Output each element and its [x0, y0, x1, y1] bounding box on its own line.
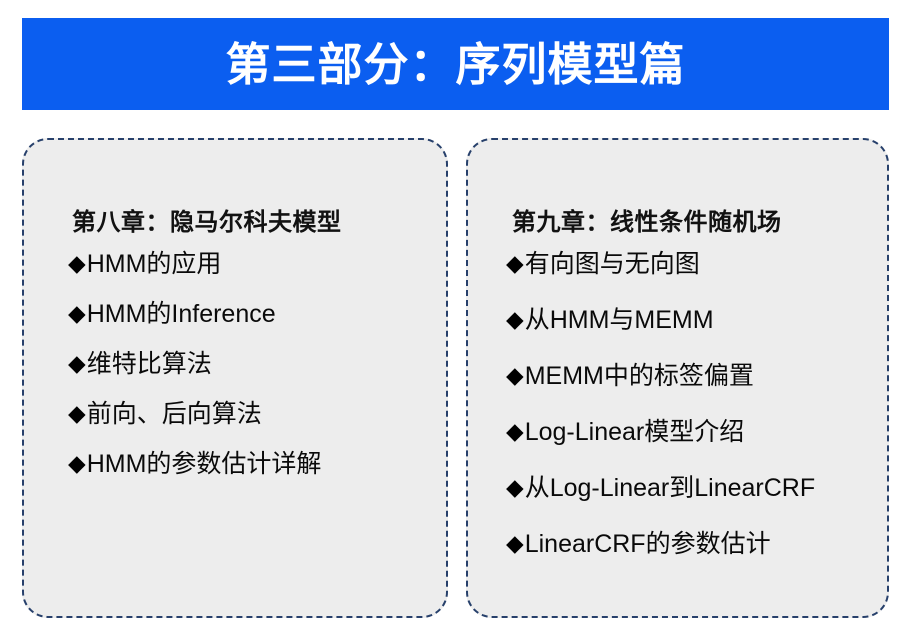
list-item: ◆ LinearCRF的参数估计: [506, 532, 815, 588]
list-item-label: HMM的参数估计详解: [87, 452, 322, 477]
list-item-label: MEMM中的标签偏置: [525, 364, 754, 389]
list-item-label: Log-Linear模型介绍: [525, 420, 745, 445]
list-item: ◆ HMM的Inference: [68, 302, 321, 352]
list-item-label: HMM的应用: [87, 252, 222, 277]
diamond-bullet-icon: ◆: [506, 420, 524, 443]
diamond-bullet-icon: ◆: [506, 476, 524, 499]
chapter-card-right: 第九章：线性条件随机场 ◆ 有向图与无向图 ◆ 从HMM与MEMM ◆ MEMM…: [466, 138, 889, 618]
topic-list-right: ◆ 有向图与无向图 ◆ 从HMM与MEMM ◆ MEMM中的标签偏置 ◆ Log…: [506, 252, 815, 588]
diamond-bullet-icon: ◆: [506, 364, 524, 387]
diamond-bullet-icon: ◆: [68, 252, 86, 275]
list-item: ◆ HMM的应用: [68, 252, 321, 302]
diamond-bullet-icon: ◆: [68, 402, 86, 425]
diamond-bullet-icon: ◆: [68, 452, 86, 475]
diamond-bullet-icon: ◆: [68, 352, 86, 375]
chapter-card-left: 第八章：隐马尔科夫模型 ◆ HMM的应用 ◆ HMM的Inference ◆ 维…: [22, 138, 448, 618]
list-item-label: 前向、后向算法: [87, 402, 262, 427]
chapter-heading-left: 第八章：隐马尔科夫模型: [72, 202, 342, 237]
list-item: ◆ 维特比算法: [68, 352, 321, 402]
list-item-label: 有向图与无向图: [525, 252, 700, 277]
list-item-label: HMM的Inference: [87, 302, 276, 327]
diamond-bullet-icon: ◆: [506, 252, 524, 275]
list-item: ◆ 从HMM与MEMM: [506, 308, 815, 364]
list-item: ◆ HMM的参数估计详解: [68, 452, 321, 502]
list-item-label: 从HMM与MEMM: [525, 308, 714, 333]
list-item: ◆ 从Log-Linear到LinearCRF: [506, 476, 815, 532]
list-item-label: 维特比算法: [87, 352, 212, 377]
diamond-bullet-icon: ◆: [506, 532, 524, 555]
banner-title: 第三部分：序列模型篇: [225, 42, 685, 87]
diamond-bullet-icon: ◆: [68, 302, 86, 325]
list-item: ◆ MEMM中的标签偏置: [506, 364, 815, 420]
list-item: ◆ Log-Linear模型介绍: [506, 420, 815, 476]
topic-list-left: ◆ HMM的应用 ◆ HMM的Inference ◆ 维特比算法 ◆ 前向、后向…: [68, 252, 321, 502]
diamond-bullet-icon: ◆: [506, 308, 524, 331]
list-item-label: LinearCRF的参数估计: [525, 532, 771, 557]
list-item-label: 从Log-Linear到LinearCRF: [525, 476, 815, 501]
list-item: ◆ 有向图与无向图: [506, 252, 815, 308]
section-banner: 第三部分：序列模型篇: [22, 18, 889, 110]
list-item: ◆ 前向、后向算法: [68, 402, 321, 452]
chapter-heading-right: 第九章：线性条件随机场: [512, 202, 782, 237]
